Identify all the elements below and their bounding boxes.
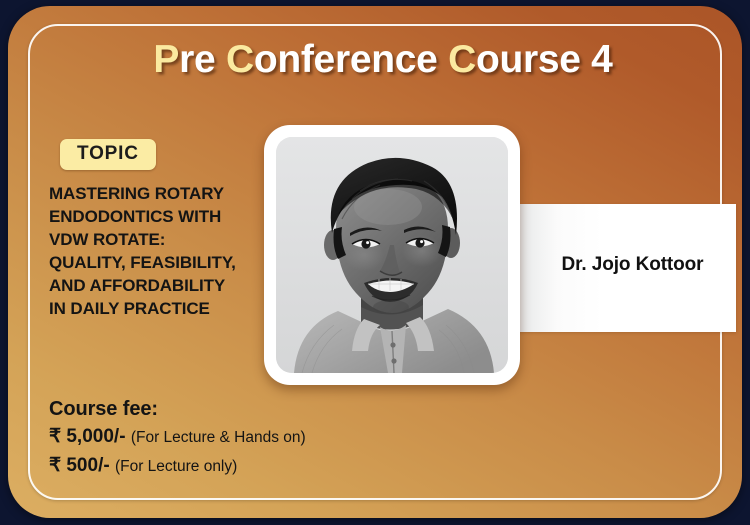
course-fee-amount: ₹ 500/- — [49, 455, 110, 476]
speaker-photo-frame — [264, 125, 520, 385]
course-fee-note: (For Lecture & Hands on) — [131, 429, 306, 446]
course-fee-amount: ₹ 5,000/- — [49, 426, 126, 447]
poster-canvas: Pre Conference Course 4 TOPIC MASTERING … — [0, 0, 750, 525]
course-fee-block: Course fee: ₹ 5,000/- (For Lecture & Han… — [49, 396, 306, 480]
course-fee-row: ₹ 5,000/- (For Lecture & Hands on) — [49, 424, 306, 451]
speaker-name: Dr. Jojo Kottoor — [507, 254, 736, 276]
course-title-line: VDW ROTATE: — [49, 228, 277, 251]
title-segment-3: C — [226, 38, 254, 81]
course-title-line: AND AFFORDABILITY — [49, 274, 277, 297]
course-title-line: ENDODONTICS WITH — [49, 205, 277, 228]
course-title-line: IN DAILY PRACTICE — [49, 297, 277, 320]
course-fee-note: (For Lecture only) — [115, 458, 237, 475]
title-segment-2: re — [179, 38, 226, 81]
title-segment-6: ourse 4 — [476, 38, 613, 81]
course-title-line: QUALITY, FEASIBILITY, — [49, 251, 277, 274]
title-segment-1: P — [153, 38, 179, 81]
course-card: Pre Conference Course 4 TOPIC MASTERING … — [8, 6, 742, 518]
title-segment-5: C — [448, 38, 476, 81]
course-title-block: MASTERING ROTARY ENDODONTICS WITH VDW RO… — [49, 182, 277, 320]
title-segment-4: onference — [254, 38, 448, 81]
topic-badge: TOPIC — [60, 139, 156, 170]
course-title-line: MASTERING ROTARY — [49, 182, 277, 205]
speaker-photo — [276, 137, 508, 373]
course-fee-heading: Course fee: — [49, 396, 306, 422]
speaker-portrait-illustration — [276, 137, 508, 373]
page-title: Pre Conference Course 4 — [8, 40, 742, 81]
speaker-name-band: Dr. Jojo Kottoor — [507, 204, 736, 332]
course-fee-row: ₹ 500/- (For Lecture only) — [49, 453, 306, 480]
